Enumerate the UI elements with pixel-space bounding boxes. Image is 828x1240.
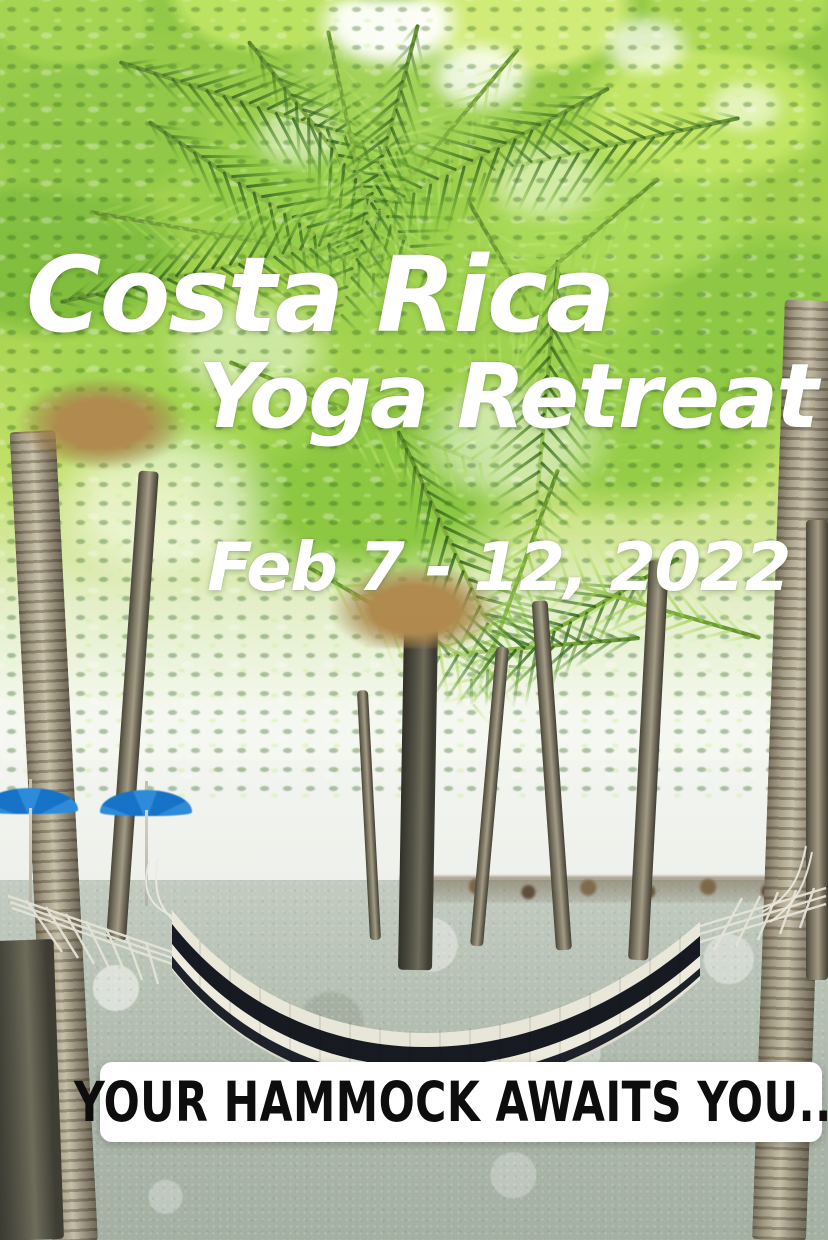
date-range-text: Feb 7 - 12, 2022 xyxy=(207,534,790,601)
poster-canvas: Costa Rica Yoga Retreat Feb 7 - 12, 2022… xyxy=(0,0,828,1240)
tagline-banner: YOUR HAMMOCK AWAITS YOU... xyxy=(100,1062,822,1142)
text-overlay: Costa Rica Yoga Retreat Feb 7 - 12, 2022… xyxy=(0,0,828,1240)
headline-line-2: Yoga Retreat xyxy=(198,352,817,441)
headline-line-1: Costa Rica xyxy=(26,243,613,347)
tagline-text: YOUR HAMMOCK AWAITS YOU... xyxy=(74,1075,828,1130)
